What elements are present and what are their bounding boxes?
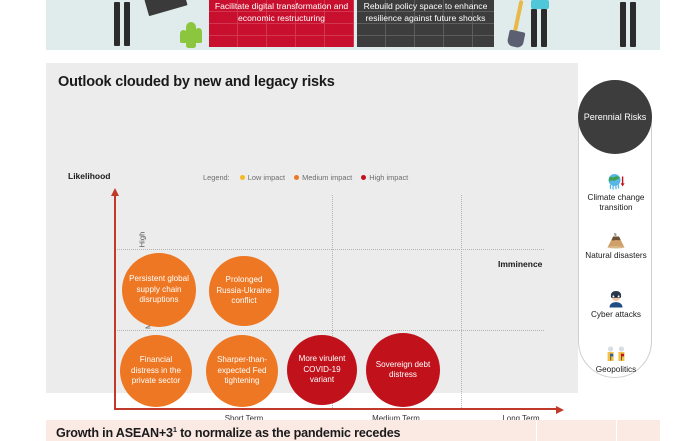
cactus-icon (180, 30, 187, 43)
bubble-sovereign-debt-distress[interactable]: Sovereign debt distress (366, 333, 440, 407)
globe-melting-icon (606, 173, 626, 191)
y-tick-high: High (138, 220, 147, 260)
figure-leg (114, 2, 120, 46)
y-axis-arrow (111, 188, 119, 196)
volcano-icon (606, 231, 626, 249)
perennial-label-natural-disasters: Natural disasters (585, 251, 646, 260)
legend-title: Legend: (203, 173, 230, 182)
chart-right-filler (560, 63, 578, 393)
perennial-item-geopolitics[interactable]: Geopolitics (579, 345, 653, 375)
chart-title: Outlook clouded by new and legacy risks (58, 74, 335, 90)
top-illustration-strip: Facilitate digital transformation and ec… (0, 0, 700, 56)
x-axis-arrow (556, 406, 564, 414)
flags-icon (606, 345, 626, 363)
figure-leg (620, 2, 626, 47)
figure-shirt (531, 0, 549, 9)
panel-rebuild-policy-space: Rebuild policy space to enhance resilien… (357, 0, 494, 47)
bubble-more-virulent-covid-19-variant[interactable]: More virulent COVID-19 variant (287, 335, 357, 405)
bubble-persistent-global-supply-chain-disruptions[interactable]: Persistent global supply chain disruptio… (122, 253, 196, 327)
x-axis (114, 408, 556, 410)
plot-area: High Medium Low Persistent global supply… (114, 195, 544, 410)
legend-item-high-impact: High impact (361, 173, 408, 182)
bottom-banner-title-rest: to normalize as the pandemic recedes (177, 426, 401, 440)
perennial-item-natural-disasters[interactable]: Natural disasters (579, 231, 653, 261)
figure-leg (531, 9, 537, 47)
bubble-prolonged-russia-ukraine-conflict[interactable]: Prolonged Russia-Ukraine conflict (209, 256, 279, 326)
bottom-banner: Growth in ASEAN+31 to normalize as the p… (46, 420, 660, 441)
perennial-risks-heading: Perennial Risks (584, 111, 647, 123)
gridline-vertical (461, 195, 462, 408)
legend-item-low-impact: Low impact (240, 173, 285, 182)
y-axis-title: Likelihood (68, 171, 111, 181)
perennial-label-cyber-attacks: Cyber attacks (591, 310, 641, 319)
bottom-banner-title: Growth in ASEAN+31 to normalize as the p… (56, 425, 400, 440)
bottom-banner-title-main: Growth in ASEAN+3 (56, 426, 173, 440)
hacker-icon (606, 290, 626, 308)
perennial-item-cyber-attacks[interactable]: Cyber attacks (579, 290, 653, 320)
legend-item-medium-impact: Medium impact (294, 173, 352, 182)
perennial-label-climate-change-transition: Climate change transition (588, 193, 645, 212)
bubble-financial-distress-in-the-private-sector[interactable]: Financial distress in the private sector (120, 335, 192, 407)
perennial-risks-heading-badge: Perennial Risks (578, 80, 652, 154)
legend-dot-low-impact (240, 175, 245, 180)
panel-facilitate-digital: Facilitate digital transformation and ec… (209, 0, 354, 47)
panel-rebuild-policy-space-text: Rebuild policy space to enhance resilien… (357, 0, 494, 24)
banner-divider (536, 420, 537, 441)
strip-underline (46, 50, 660, 55)
gridline-horizontal (114, 249, 544, 250)
legend-label-high-impact: High impact (369, 173, 408, 182)
banner-divider (616, 420, 617, 441)
bubble-sharper-than-expected-fed-tightening[interactable]: Sharper-than-expected Fed tightening (206, 335, 278, 407)
figure-leg (630, 2, 636, 47)
perennial-item-climate-change-transition[interactable]: Climate change transition (579, 173, 653, 213)
perennial-label-geopolitics: Geopolitics (596, 365, 637, 374)
legend-label-low-impact: Low impact (248, 173, 285, 182)
x-axis-title: Imminence (498, 259, 542, 269)
cactus-icon (195, 28, 202, 43)
gridline-horizontal (114, 330, 544, 331)
chart-legend: Legend: Low impact Medium impact High im… (203, 173, 408, 182)
figure-leg (124, 2, 130, 46)
y-axis (114, 195, 116, 410)
legend-dot-medium-impact (294, 175, 299, 180)
legend-dot-high-impact (361, 175, 366, 180)
risk-matrix-chart: Outlook clouded by new and legacy risks … (46, 63, 560, 393)
legend-label-medium-impact: Medium impact (302, 173, 352, 182)
panel-facilitate-digital-text: Facilitate digital transformation and ec… (209, 0, 354, 24)
figure-leg (541, 9, 547, 47)
